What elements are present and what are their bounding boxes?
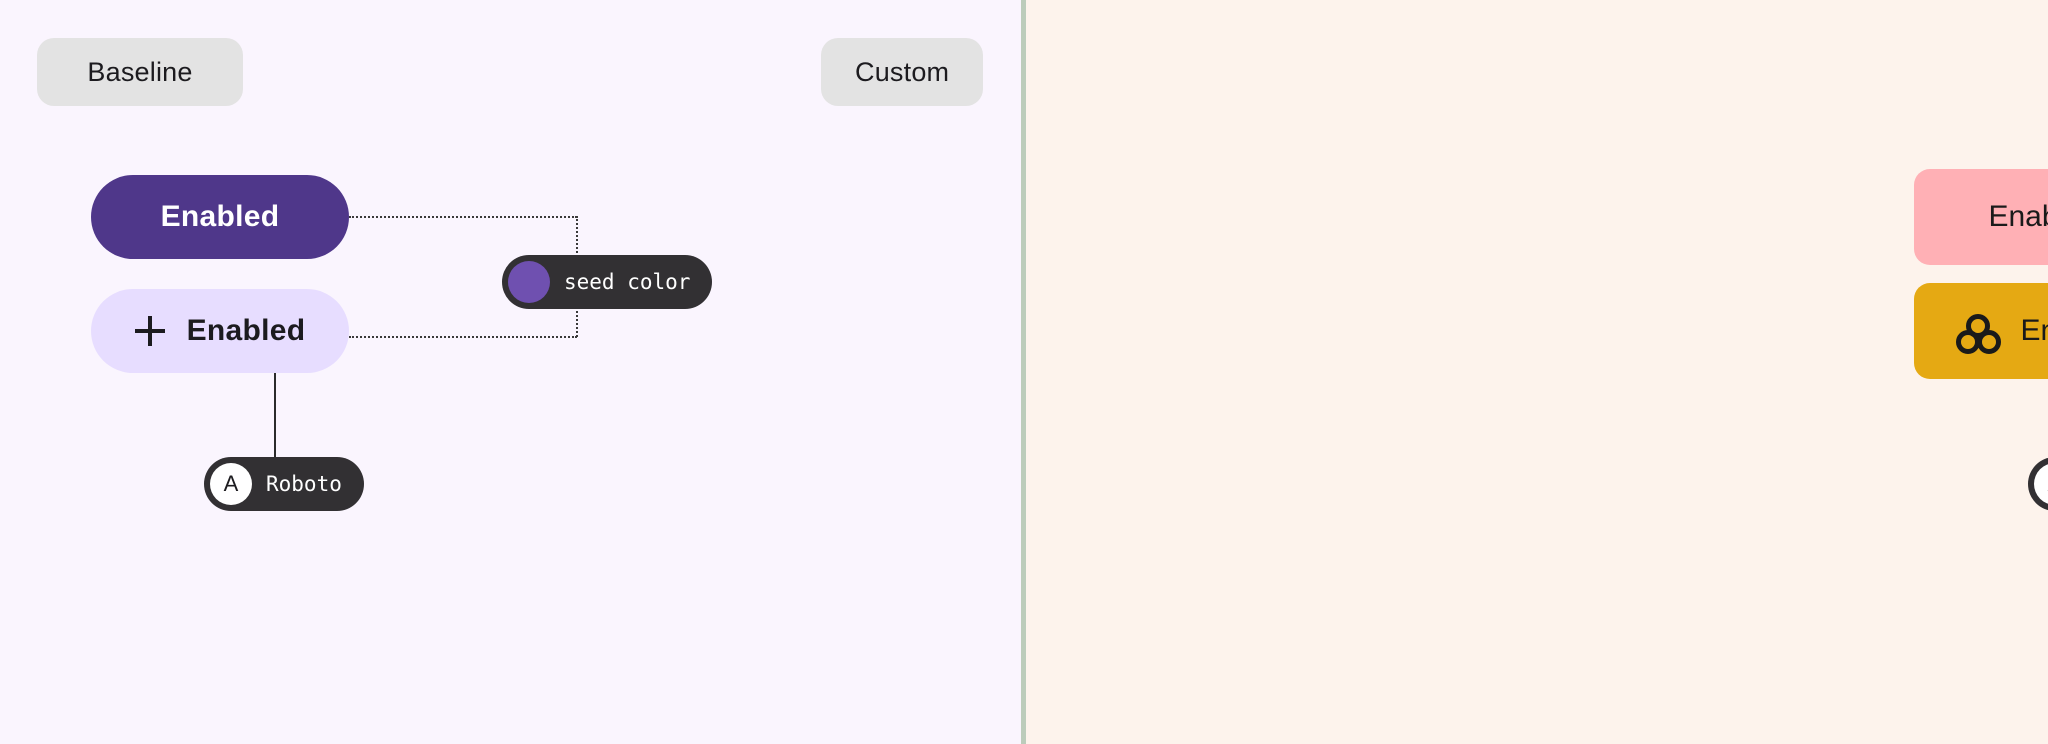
baseline-tonal-button[interactable]: Enabled: [91, 289, 349, 373]
connector-seed-top: [349, 216, 577, 218]
annotation-chip-font-roboto[interactable]: A Roboto: [204, 457, 364, 511]
section-label-baseline: Baseline: [37, 38, 243, 106]
section-label-custom-text: Custom: [855, 57, 949, 88]
annotation-chip-seed-color-label: seed color: [564, 270, 690, 294]
comparison-diagram: Baseline Enabled Enabled seed color A: [0, 0, 2048, 744]
font-avatar-icon: A: [210, 463, 252, 505]
custom-primary-button[interactable]: Enabled: [1914, 283, 2048, 379]
plus-icon: [135, 316, 165, 346]
baseline-filled-button[interactable]: Enabled: [91, 175, 349, 259]
baseline-tonal-button-label: Enabled: [187, 314, 306, 348]
annotation-chip-seed-color[interactable]: seed color: [502, 255, 712, 309]
annotation-chip-font-roboto-label: Roboto: [266, 472, 342, 496]
section-label-baseline-text: Baseline: [87, 57, 192, 88]
color-swatch-icon: [508, 261, 550, 303]
custom-primary-button-label: Enabled: [2020, 314, 2048, 348]
baseline-panel: Baseline Enabled Enabled seed color A: [0, 0, 1021, 744]
section-label-custom: Custom: [821, 38, 983, 106]
custom-panel: Custom Enabled Enabled brand secondary: [1026, 0, 2048, 744]
baseline-filled-button-label: Enabled: [161, 200, 280, 234]
custom-secondary-button-label: Enabled: [1988, 200, 2048, 234]
custom-secondary-button[interactable]: Enabled: [1914, 169, 2048, 265]
annotation-chip-font-tenor-sans[interactable]: A Tenor Sans: [2028, 457, 2048, 511]
font-avatar-icon: A: [2034, 463, 2048, 505]
font-avatar-letter: A: [224, 471, 239, 497]
connector-seed-bottom: [349, 336, 577, 338]
cluster-dots-icon: [1956, 314, 1996, 348]
